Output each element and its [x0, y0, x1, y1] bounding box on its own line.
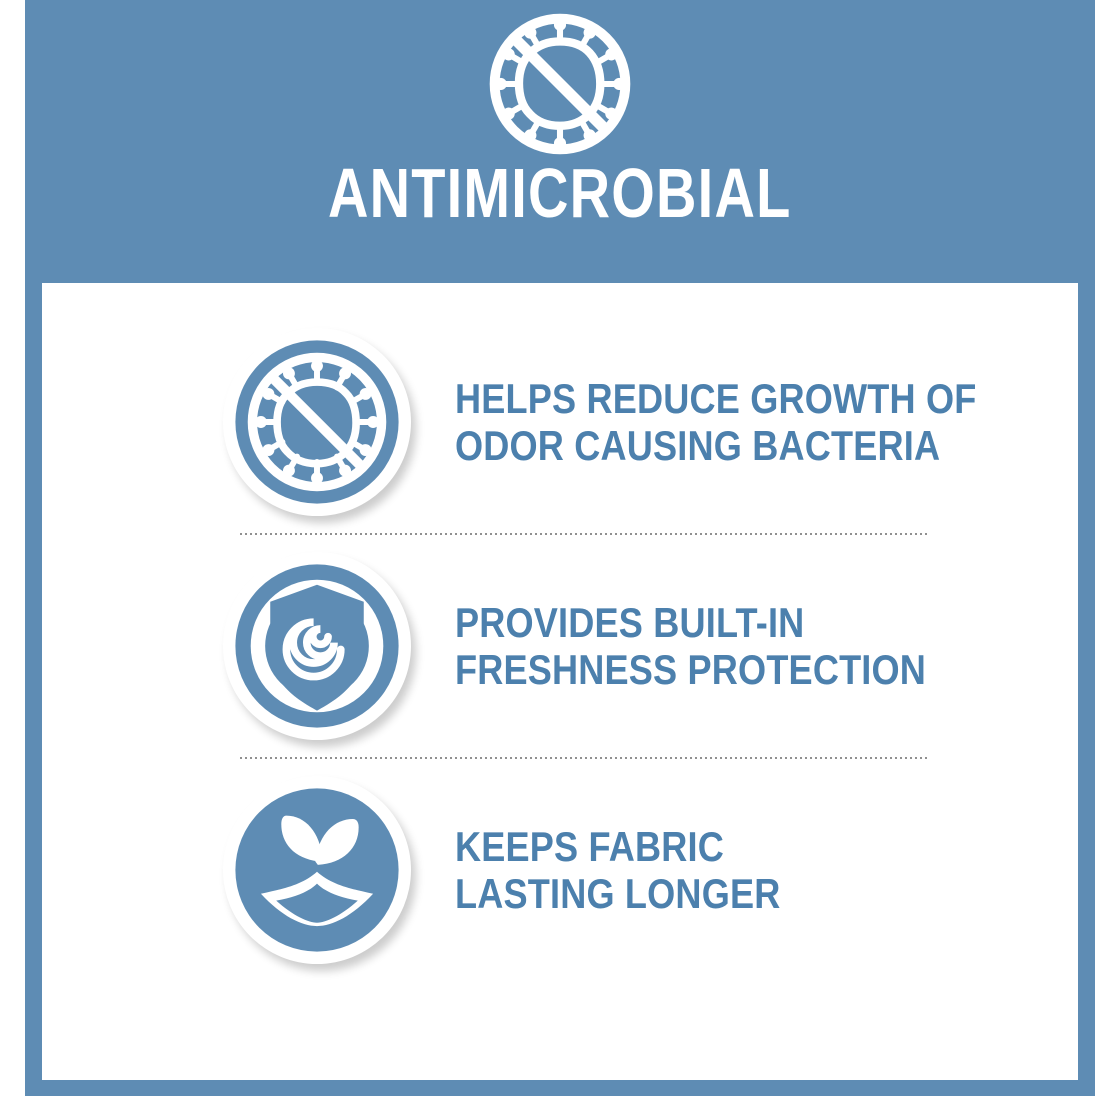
feature-line-1: HELPS REDUCE GROWTH OF: [455, 375, 977, 422]
blue-frame-card: ANTIMICROBIAL: [25, 0, 1095, 1096]
list-item: PROVIDES BUILT-IN FRESHNESS PROTECTION: [42, 535, 1078, 757]
feature-text: HELPS REDUCE GROWTH OF ODOR CAUSING BACT…: [455, 375, 977, 469]
list-item: KEEPS FABRIC LASTING LONGER: [42, 759, 1078, 981]
feature-text: KEEPS FABRIC LASTING LONGER: [455, 823, 780, 917]
feature-line-1: KEEPS FABRIC: [455, 823, 724, 870]
feature-text: PROVIDES BUILT-IN FRESHNESS PROTECTION: [455, 599, 926, 693]
no-germ-badge-icon: [223, 328, 411, 516]
shield-icon: [232, 561, 402, 731]
feature-line-2: LASTING LONGER: [455, 870, 780, 917]
header: ANTIMICROBIAL: [25, 0, 1095, 283]
sprout-icon: [232, 785, 402, 955]
list-item: HELPS REDUCE GROWTH OF ODOR CAUSING BACT…: [42, 311, 1078, 533]
feature-line-2: ODOR CAUSING BACTERIA: [455, 422, 977, 469]
sprout-leaf-badge-icon: [223, 776, 411, 964]
no-germ-icon: [484, 8, 636, 160]
content-panel: HELPS REDUCE GROWTH OF ODOR CAUSING BACT…: [42, 283, 1078, 1080]
infographic-canvas: ANTIMICROBIAL: [0, 0, 1120, 1120]
feature-line-2: FRESHNESS PROTECTION: [455, 646, 926, 693]
shield-swirl-badge-icon: [223, 552, 411, 740]
feature-line-1: PROVIDES BUILT-IN: [455, 599, 804, 646]
page-title: ANTIMICROBIAL: [328, 156, 792, 230]
no-germ-icon: [232, 337, 402, 507]
feature-list: HELPS REDUCE GROWTH OF ODOR CAUSING BACT…: [42, 283, 1078, 1080]
